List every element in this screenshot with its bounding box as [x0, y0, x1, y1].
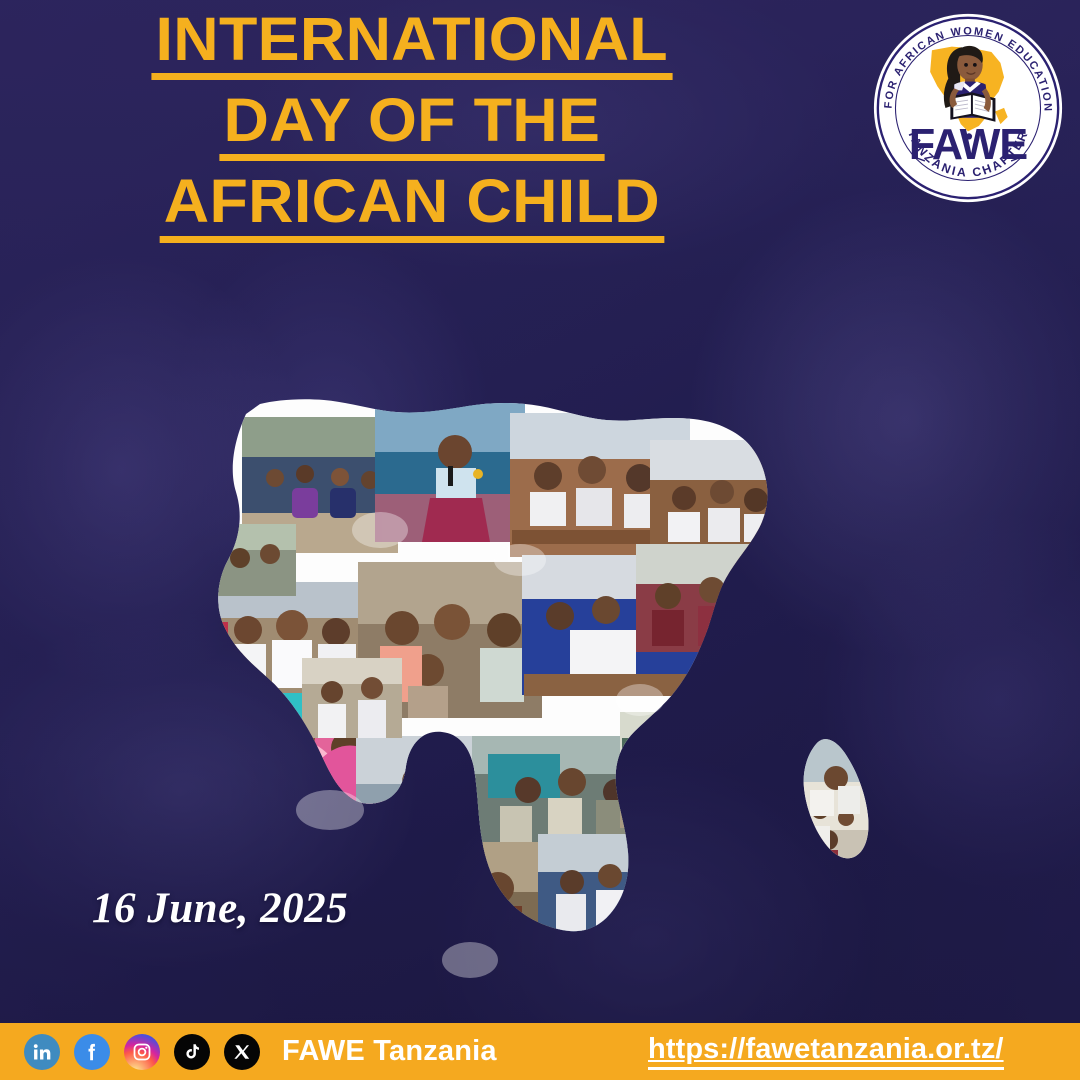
- facebook-icon[interactable]: [74, 1034, 110, 1070]
- instagram-icon[interactable]: [124, 1034, 160, 1070]
- x-icon[interactable]: [224, 1034, 260, 1070]
- instagram-glyph: [132, 1042, 152, 1062]
- fawe-logo[interactable]: FAWE FORUM FOR AFRICAN WOMEN EDUCATIONAL…: [870, 10, 1066, 206]
- event-date: 16 June, 2025: [92, 884, 348, 933]
- poster-canvas: INTERNATIONAL DAY OF THE AFRICAN CHILD: [0, 0, 1080, 1080]
- facebook-glyph: [81, 1041, 103, 1063]
- website-link[interactable]: https://fawetanzania.or.tz/: [648, 1033, 1004, 1070]
- collage-photo: [600, 980, 744, 990]
- footer-bar: FAWE Tanzania https://fawetanzania.or.tz…: [0, 1023, 1080, 1080]
- x-glyph: [233, 1043, 251, 1061]
- africa-map-svg: [0, 230, 1080, 990]
- collage-photo: [356, 736, 484, 860]
- collage-photo: [302, 658, 402, 738]
- brand-name: FAWE Tanzania: [282, 1035, 497, 1068]
- collage-photo: [208, 524, 296, 596]
- linkedin-icon[interactable]: [24, 1034, 60, 1070]
- social-links: [24, 1034, 260, 1070]
- collage-photo: [472, 983, 648, 990]
- collage-photo: [636, 544, 764, 652]
- linkedin-glyph: [32, 1042, 52, 1062]
- africa-map-collage: [0, 230, 1080, 990]
- headline-line-2: DAY OF THE: [220, 89, 605, 161]
- madagascar-photo: [796, 730, 880, 872]
- tiktok-icon[interactable]: [174, 1034, 210, 1070]
- collage-photo: [620, 712, 762, 828]
- collage-photo: [638, 846, 762, 958]
- headline-line-1: INTERNATIONAL: [152, 8, 673, 80]
- tiktok-glyph: [183, 1042, 202, 1061]
- collage-photo: [538, 834, 662, 946]
- fawe-logo-svg: FAWE FORUM FOR AFRICAN WOMEN EDUCATIONAL…: [870, 10, 1066, 206]
- headline-line-3: AFRICAN CHILD: [160, 170, 664, 242]
